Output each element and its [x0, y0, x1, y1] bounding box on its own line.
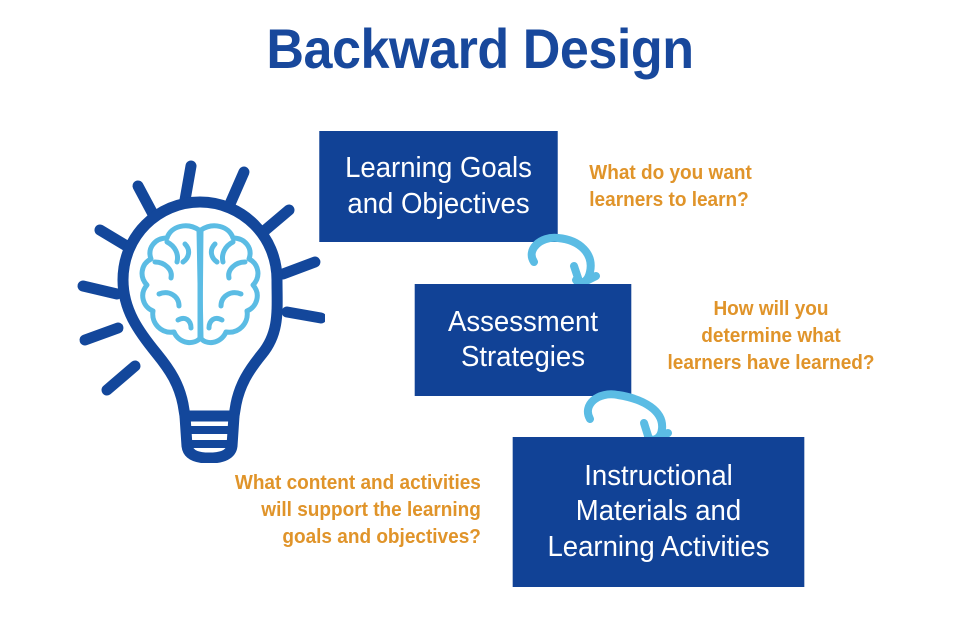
- question-instructional-materials: What content and activities will support…: [210, 470, 481, 551]
- infographic-canvas: Backward Design: [0, 0, 960, 640]
- stage-line: Instructional: [584, 459, 733, 494]
- question-line: learners have learned?: [657, 350, 885, 377]
- question-learning-goals: What do you want learners to learn?: [589, 160, 752, 214]
- stage-line: Learning Activities: [547, 530, 769, 565]
- question-line: determine what: [657, 323, 885, 350]
- question-line: How will you: [657, 296, 885, 323]
- question-line: will support the learning: [210, 497, 481, 524]
- question-line: What do you want: [589, 160, 752, 187]
- stage-line: Materials and: [576, 494, 741, 529]
- stage-line: Learning Goals: [345, 151, 532, 186]
- question-line: What content and activities: [210, 470, 481, 497]
- stage-line: Assessment: [448, 305, 598, 340]
- question-line: learners to learn?: [589, 187, 752, 214]
- stage-box-assessment-strategies: Assessment Strategies: [415, 284, 632, 396]
- stage-line: Strategies: [461, 340, 585, 375]
- question-line: goals and objectives?: [210, 524, 481, 551]
- page-title: Backward Design: [34, 18, 927, 80]
- question-assessment-strategies: How will you determine what learners hav…: [657, 296, 885, 377]
- stage-line: and Objectives: [347, 187, 529, 222]
- stage-box-learning-goals: Learning Goals and Objectives: [319, 131, 557, 242]
- stage-box-instructional-materials: Instructional Materials and Learning Act…: [513, 437, 805, 587]
- lightbulb-brain-icon: [75, 158, 325, 463]
